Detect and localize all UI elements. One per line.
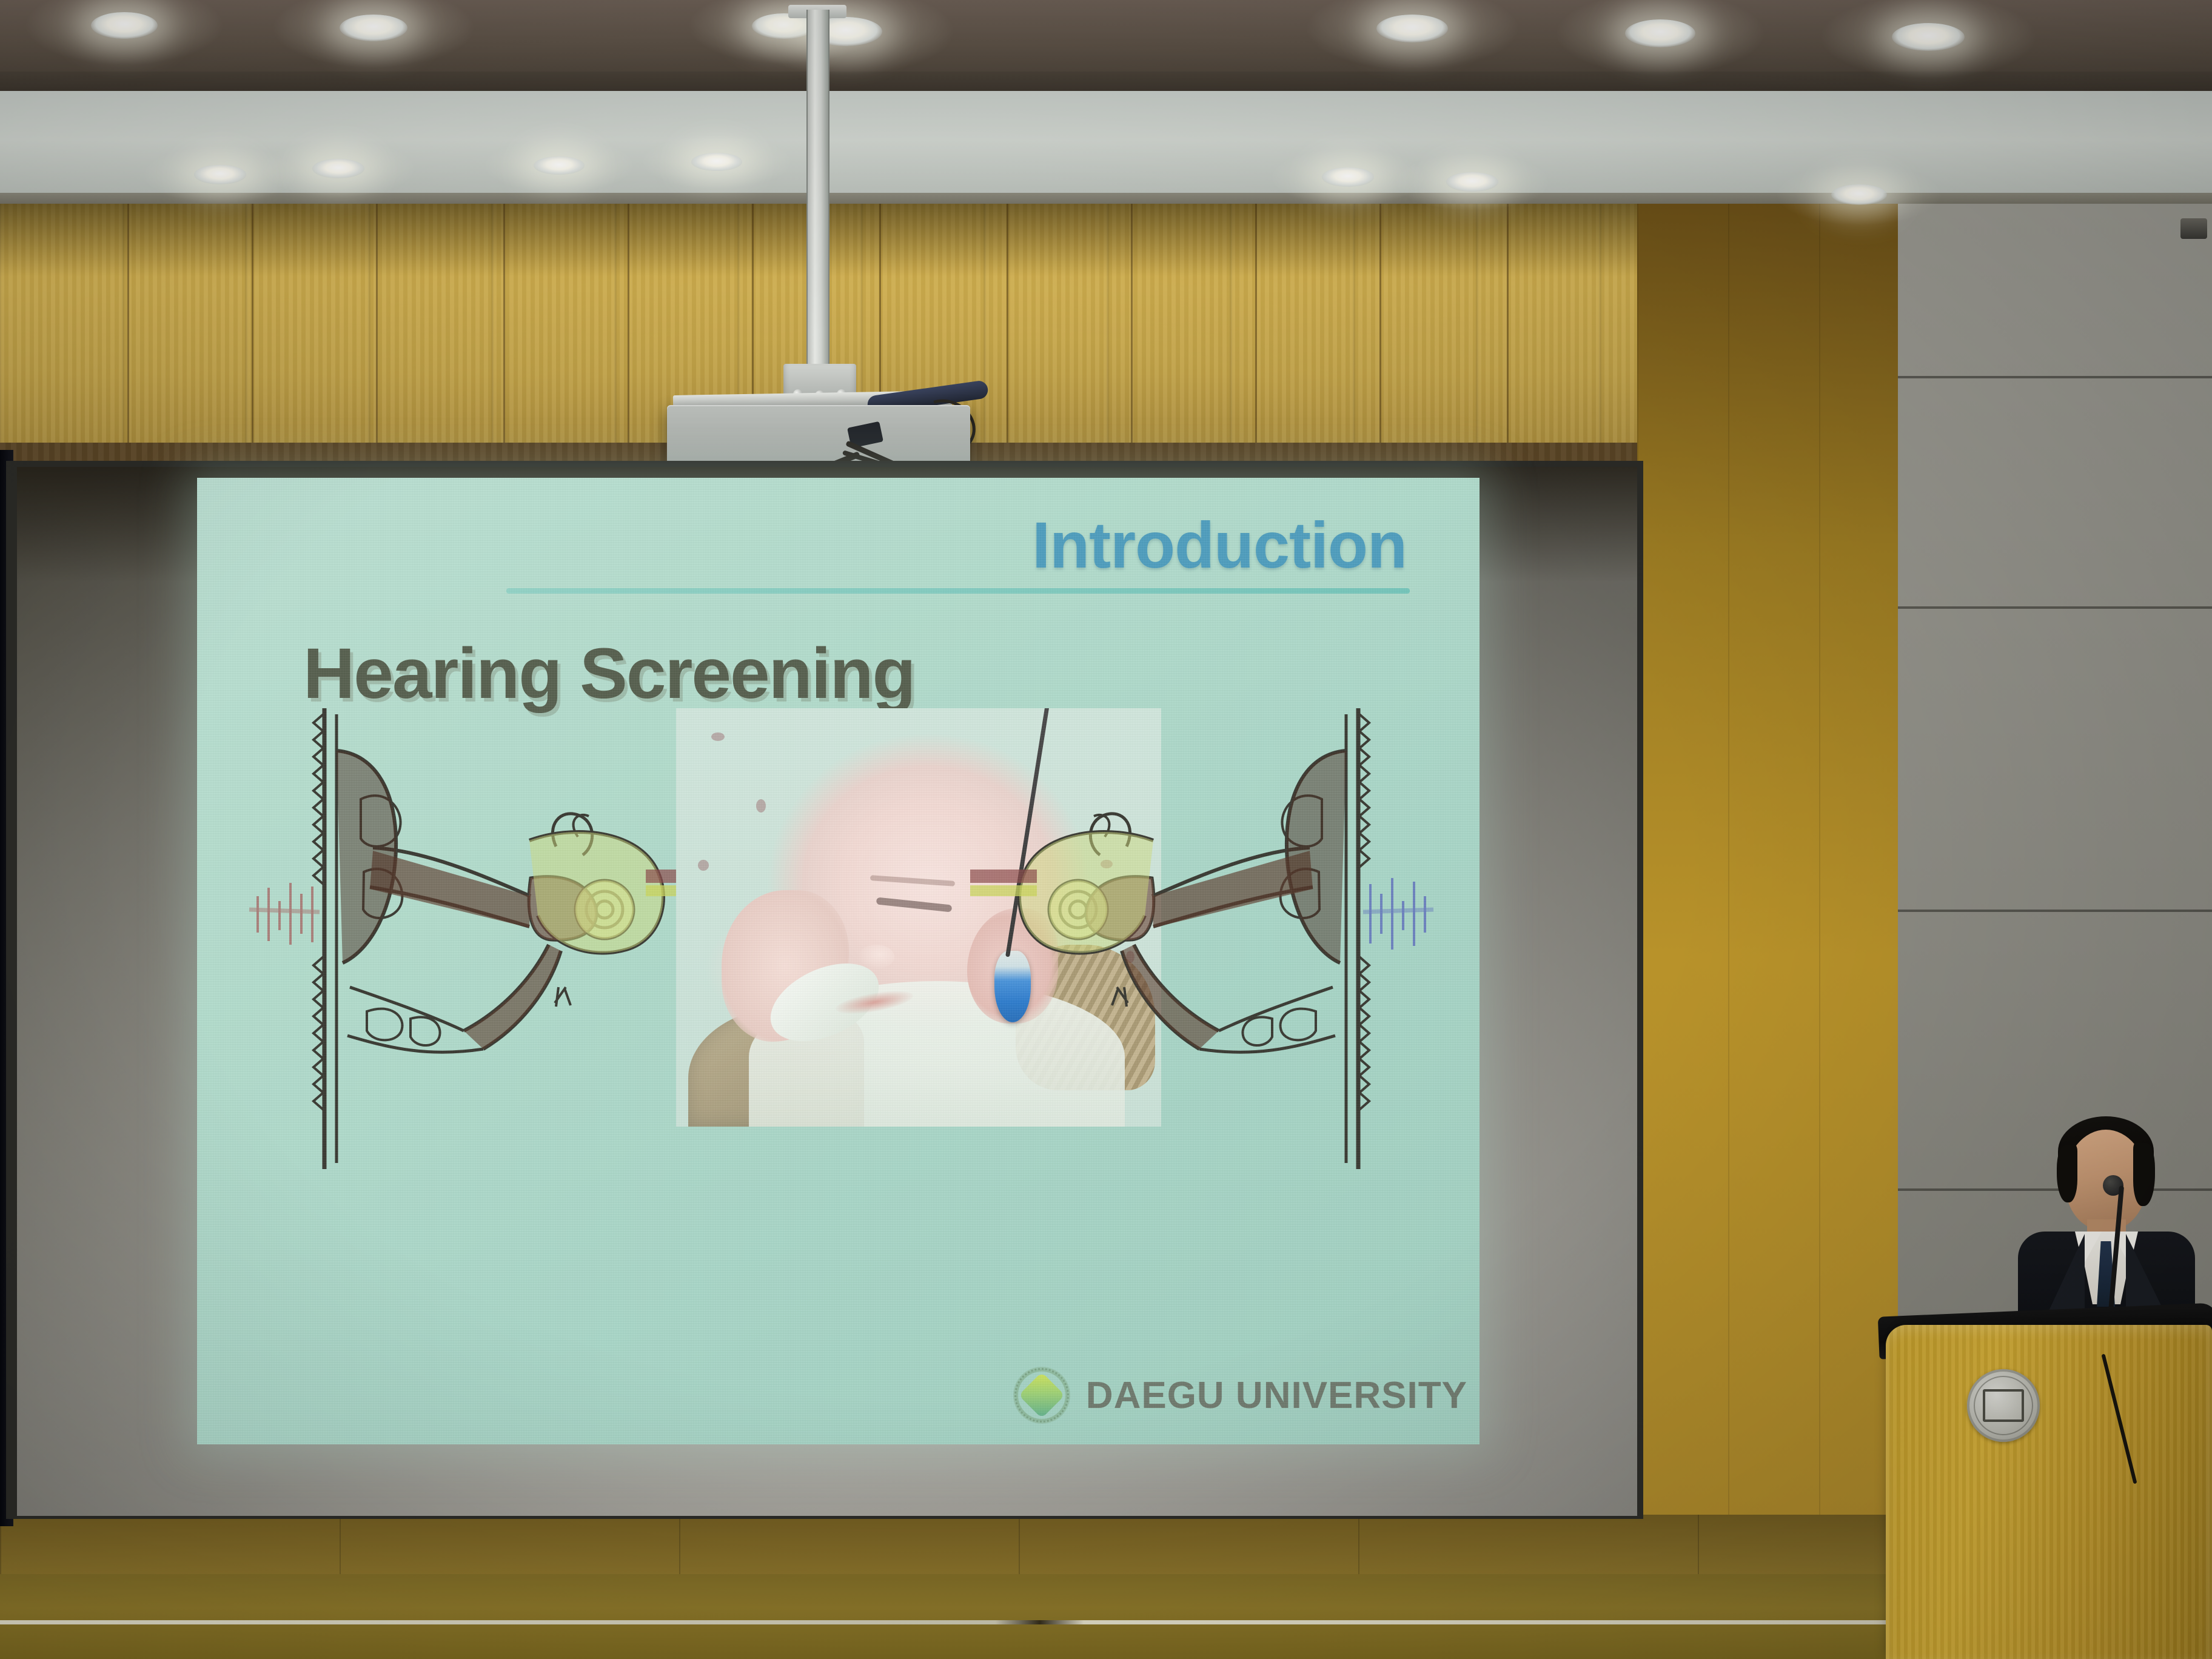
cove-light-6 bbox=[1446, 172, 1498, 192]
downlight-6 bbox=[1625, 19, 1695, 47]
cove-light-7 bbox=[1831, 184, 1887, 205]
university-seal-emblem-icon bbox=[1967, 1369, 2040, 1442]
wood-panel-seam bbox=[1379, 204, 1381, 446]
downlight-2 bbox=[340, 15, 407, 41]
cove-light-2 bbox=[312, 159, 364, 178]
wood-panel-seam bbox=[127, 204, 129, 446]
ear-anatomy-diagram-right bbox=[970, 696, 1437, 1181]
ceiling-soffit bbox=[0, 72, 2212, 93]
wood-panel-seam bbox=[1507, 204, 1509, 446]
floor-edge-strip bbox=[0, 1620, 2212, 1624]
gray-wall-seam bbox=[1898, 910, 2212, 912]
lecture-hall-scene: Introduction Hearing Screening bbox=[0, 0, 2212, 1659]
wood-panel-seam bbox=[503, 204, 505, 446]
wood-panel-seam bbox=[628, 204, 629, 446]
baby-nose bbox=[858, 945, 894, 969]
stage-floor bbox=[0, 1574, 2212, 1659]
ceiling bbox=[0, 0, 2212, 80]
right-wood-column bbox=[1637, 204, 1904, 1574]
presenter-at-podium bbox=[2007, 1113, 2201, 1331]
cove-light-1 bbox=[194, 165, 246, 184]
cove-light-3 bbox=[534, 156, 585, 175]
daegu-university-logo-icon bbox=[1013, 1367, 1070, 1424]
slide-section-title: Introduction bbox=[1032, 507, 1407, 583]
presenter-hair-side bbox=[2057, 1145, 2077, 1202]
downlight-1 bbox=[91, 12, 158, 39]
downlight-7 bbox=[1892, 23, 1965, 51]
cove-light-4 bbox=[691, 153, 742, 171]
projector-ceiling-pole bbox=[806, 10, 829, 369]
wood-panel-seam bbox=[1131, 204, 1133, 446]
photo-artifact bbox=[711, 732, 725, 741]
photo-artifact bbox=[756, 799, 766, 813]
stage-apron bbox=[0, 1515, 2212, 1575]
wood-panel-seam bbox=[252, 204, 253, 446]
downlight-5 bbox=[1376, 15, 1448, 42]
baby-eyebrow bbox=[870, 875, 955, 886]
slide-footer: DAEGU UNIVERSITY bbox=[1013, 1367, 1467, 1424]
upper-wall-cove bbox=[0, 91, 2212, 200]
slide-title-underline bbox=[506, 588, 1410, 594]
baby-closed-eye bbox=[876, 897, 953, 912]
lectern bbox=[1886, 1325, 2212, 1659]
photo-artifact bbox=[698, 860, 709, 871]
wood-panel-seam bbox=[376, 204, 378, 446]
wood-panel-seam bbox=[1007, 204, 1008, 446]
slide-footer-org-name: DAEGU UNIVERSITY bbox=[1086, 1374, 1467, 1417]
wood-panel-seam bbox=[1255, 204, 1257, 446]
presenter-hair-side bbox=[2133, 1143, 2155, 1206]
cove-light-5 bbox=[1322, 167, 1374, 187]
gray-wall-seam bbox=[1898, 376, 2212, 378]
ear-anatomy-diagram-left bbox=[246, 696, 712, 1181]
gray-wall-seam bbox=[1898, 606, 2212, 609]
wall-speaker-icon bbox=[2180, 218, 2207, 239]
projected-slide: Introduction Hearing Screening bbox=[197, 478, 1480, 1444]
